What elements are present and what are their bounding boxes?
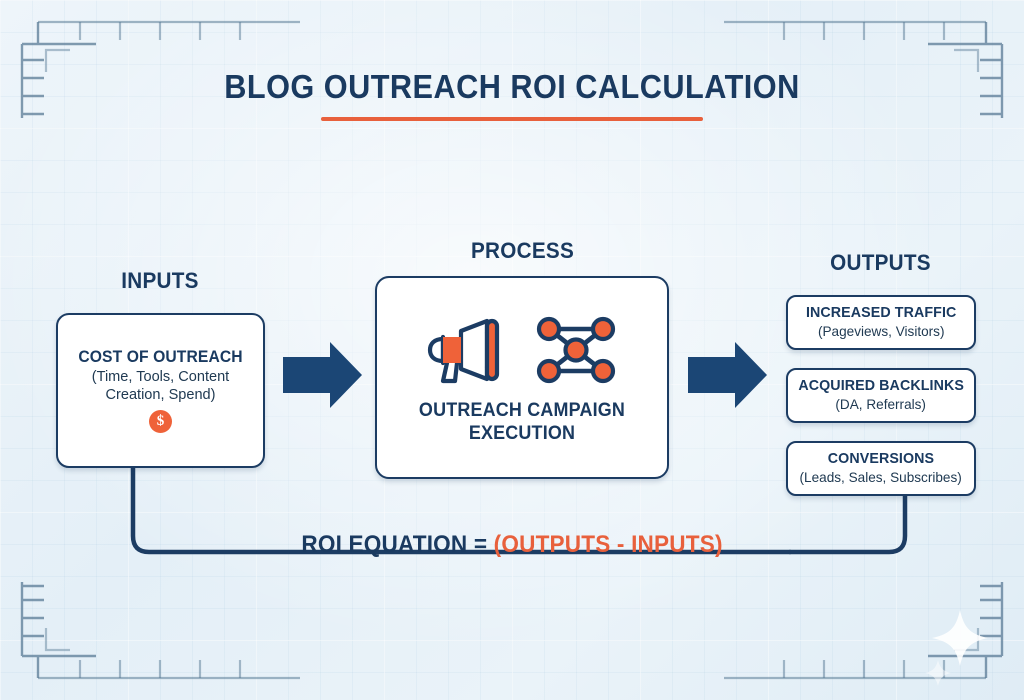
roi-equation-expression: (OUTPUTS - INPUTS) — [494, 531, 723, 558]
card-outreach-campaign: OUTREACH CAMPAIGN EXECUTION — [375, 276, 669, 479]
card-conversions: CONVERSIONS (Leads, Sales, Subscribes) — [786, 441, 976, 496]
title-underline — [321, 117, 703, 121]
network-nodes-icon — [533, 315, 619, 385]
card-inputs-title: COST OF OUTREACH — [78, 348, 242, 366]
megaphone-icon — [425, 315, 511, 385]
section-heading-process: PROCESS — [384, 238, 661, 264]
dollar-coin-icon: $ — [149, 410, 172, 433]
card-increased-traffic: INCREASED TRAFFIC (Pageviews, Visitors) — [786, 295, 976, 350]
card-output-subtitle: (DA, Referrals) — [836, 396, 927, 413]
page-title: BLOG OUTREACH ROI CALCULATION — [36, 68, 988, 106]
card-output-subtitle: (Leads, Sales, Subscribes) — [800, 469, 962, 486]
arrow-inputs-to-process — [283, 342, 362, 408]
section-heading-inputs: INPUTS — [61, 268, 258, 294]
section-heading-outputs: OUTPUTS — [789, 250, 972, 276]
card-output-title: INCREASED TRAFFIC — [806, 305, 956, 322]
infographic-canvas: BLOG OUTREACH ROI CALCULATION INPUTS COS… — [0, 0, 1024, 700]
roi-equation: ROI EQUATION = (OUTPUTS - INPUTS) — [31, 531, 994, 559]
process-icon-row — [425, 315, 619, 385]
card-output-subtitle: (Pageviews, Visitors) — [818, 323, 945, 340]
card-inputs-subtitle: (Time, Tools, Content Creation, Spend) — [61, 368, 260, 403]
roi-equation-operator: = — [474, 531, 487, 558]
arrow-process-to-outputs — [688, 342, 767, 408]
card-process-label: OUTREACH CAMPAIGN EXECUTION — [389, 399, 656, 444]
roi-equation-label: ROI EQUATION — [301, 531, 467, 558]
card-output-title: CONVERSIONS — [828, 451, 934, 468]
card-cost-of-outreach: COST OF OUTREACH (Time, Tools, Content C… — [56, 313, 265, 468]
card-output-title: ACQUIRED BACKLINKS — [798, 378, 964, 395]
card-acquired-backlinks: ACQUIRED BACKLINKS (DA, Referrals) — [786, 368, 976, 423]
